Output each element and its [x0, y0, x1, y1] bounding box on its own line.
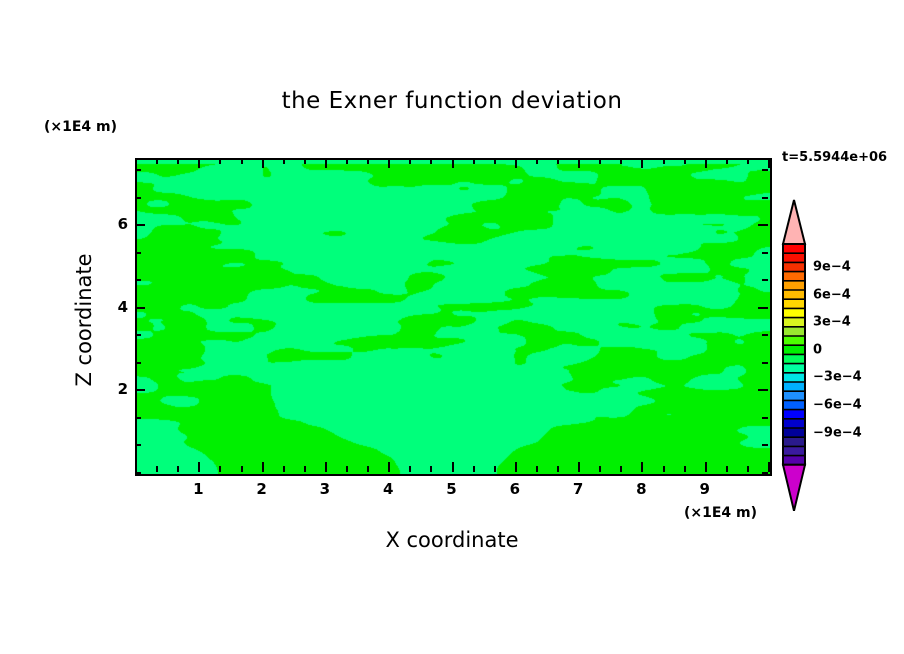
x-minor-tick-top [304, 158, 306, 164]
colorbar-segment [783, 308, 805, 318]
colorbar-segment [783, 446, 805, 456]
y-minor-tick-right [762, 417, 768, 419]
timestamp-annotation: t=5.5944e+06 [782, 150, 887, 165]
x-minor-tick [177, 466, 179, 472]
x-minor-tick [599, 466, 601, 472]
x-minor-tick [156, 466, 158, 472]
colorbar-segment [783, 253, 805, 263]
x-minor-tick-top [367, 158, 369, 164]
x-major-tick-top [578, 158, 580, 168]
x-tick-label: 7 [563, 480, 593, 498]
x-tick-label: 1 [183, 480, 213, 498]
y-major-tick-right [758, 307, 768, 309]
y-minor-tick-right [762, 444, 768, 446]
colorbar-segment [783, 400, 805, 410]
y-axis-title-wrapper: Z coordinate [72, 225, 96, 415]
colorbar-segment [783, 272, 805, 282]
colorbar-tick-label: 3e−4 [813, 315, 851, 330]
x-minor-tick [219, 466, 221, 472]
x-axis-unit-label: (×1E4 m) [684, 505, 757, 521]
y-minor-tick [135, 169, 141, 171]
y-tick-label: 4 [104, 298, 128, 316]
x-minor-tick-top [726, 158, 728, 164]
x-minor-tick-top [684, 158, 686, 164]
colorbar-segment [783, 244, 805, 254]
x-major-tick-top [198, 158, 200, 168]
x-tick-label: 4 [373, 480, 403, 498]
x-minor-tick-top [177, 158, 179, 164]
y-tick-label: 6 [104, 215, 128, 233]
colorbar-segment [783, 419, 805, 429]
x-major-tick-top [135, 158, 137, 168]
x-major-tick-top [705, 158, 707, 168]
colorbar-segment [783, 281, 805, 291]
x-tick-label: 3 [310, 480, 340, 498]
x-minor-tick [283, 466, 285, 472]
x-major-tick [578, 462, 580, 472]
page-title: the Exner function deviation [0, 88, 904, 114]
x-minor-tick-top [430, 158, 432, 164]
y-tick-label: 2 [104, 380, 128, 398]
colorbar-segment [783, 318, 805, 328]
x-major-tick-top [768, 158, 770, 168]
x-minor-tick [726, 466, 728, 472]
colorbar-segment [783, 299, 805, 309]
contour-plot-area [135, 158, 772, 476]
colorbar-tick-label: 9e−4 [813, 260, 851, 275]
x-major-tick [452, 462, 454, 472]
colorbar-tick-label: 0 [813, 342, 822, 357]
y-minor-tick-right [762, 279, 768, 281]
colorbar-tick-label: −9e−4 [813, 425, 862, 440]
x-minor-tick [663, 466, 665, 472]
x-minor-tick [536, 466, 538, 472]
colorbar-tick-label: −6e−4 [813, 398, 862, 413]
y-minor-tick-right [762, 252, 768, 254]
colorbar-segment [783, 327, 805, 337]
y-minor-tick-right [762, 197, 768, 199]
colorbar-segment [783, 345, 805, 355]
x-minor-tick-top [346, 158, 348, 164]
x-minor-tick-top [536, 158, 538, 164]
x-major-tick [388, 462, 390, 472]
x-major-tick [515, 462, 517, 472]
x-tick-label: 9 [690, 480, 720, 498]
y-minor-tick [135, 279, 141, 281]
x-minor-tick-top [747, 158, 749, 164]
y-major-tick-right [758, 224, 768, 226]
y-minor-tick [135, 444, 141, 446]
x-major-tick [768, 462, 770, 472]
x-minor-tick-top [283, 158, 285, 164]
x-minor-tick-top [494, 158, 496, 164]
colorbar-segment [783, 262, 805, 272]
x-major-tick [325, 462, 327, 472]
x-minor-tick [304, 466, 306, 472]
y-minor-tick [135, 417, 141, 419]
colorbar-segment [783, 437, 805, 447]
y-axis-title: Z coordinate [72, 253, 96, 386]
x-minor-tick [684, 466, 686, 472]
x-major-tick-top [641, 158, 643, 168]
x-major-tick [641, 462, 643, 472]
x-minor-tick [367, 466, 369, 472]
colorbar-segment [783, 391, 805, 401]
y-major-tick [135, 389, 145, 391]
x-minor-tick-top [557, 158, 559, 164]
x-minor-tick-top [241, 158, 243, 164]
colorbar-segment [783, 456, 805, 466]
y-minor-tick [135, 197, 141, 199]
colorbar-over-arrow [783, 200, 805, 244]
y-minor-tick [135, 252, 141, 254]
y-axis-unit-label: (×1E4 m) [44, 119, 117, 135]
x-minor-tick-top [599, 158, 601, 164]
x-minor-tick-top [156, 158, 158, 164]
x-minor-tick [620, 466, 622, 472]
x-minor-tick [241, 466, 243, 472]
x-minor-tick [494, 466, 496, 472]
x-axis-title: X coordinate [0, 528, 904, 552]
x-tick-label: 2 [247, 480, 277, 498]
x-minor-tick [430, 466, 432, 472]
y-major-tick [135, 224, 145, 226]
colorbar-tick-label: −3e−4 [813, 370, 862, 385]
colorbar-tick-label: 6e−4 [813, 287, 851, 302]
colorbar-segment [783, 336, 805, 346]
x-minor-tick [747, 466, 749, 472]
x-minor-tick-top [473, 158, 475, 164]
x-tick-label: 5 [437, 480, 467, 498]
x-minor-tick [557, 466, 559, 472]
x-minor-tick-top [663, 158, 665, 164]
y-minor-tick [135, 362, 141, 364]
colorbar-under-arrow [783, 465, 805, 511]
colorbar-segment [783, 290, 805, 300]
x-minor-tick [473, 466, 475, 472]
y-minor-tick [135, 334, 141, 336]
x-major-tick [198, 462, 200, 472]
colorbar-segment [783, 410, 805, 420]
x-major-tick-top [452, 158, 454, 168]
x-major-tick [705, 462, 707, 472]
colorbar-segment [783, 382, 805, 392]
y-minor-tick-right [762, 472, 768, 474]
y-minor-tick-right [762, 169, 768, 171]
x-major-tick [262, 462, 264, 472]
y-major-tick [135, 307, 145, 309]
x-minor-tick-top [409, 158, 411, 164]
x-minor-tick-top [620, 158, 622, 164]
y-minor-tick-right [762, 334, 768, 336]
x-major-tick [135, 462, 137, 472]
colorbar-segment [783, 428, 805, 438]
colorbar-segment [783, 373, 805, 383]
contour-field-canvas [137, 160, 770, 474]
x-tick-label: 8 [626, 480, 656, 498]
y-major-tick-right [758, 389, 768, 391]
y-minor-tick-right [762, 362, 768, 364]
x-minor-tick [346, 466, 348, 472]
y-minor-tick [135, 472, 141, 474]
colorbar-segment [783, 364, 805, 374]
colorbar: 9e−46e−43e−40−3e−4−6e−4−9e−4 [779, 198, 899, 516]
x-major-tick-top [515, 158, 517, 168]
x-major-tick-top [262, 158, 264, 168]
x-tick-label: 6 [500, 480, 530, 498]
colorbar-segment [783, 354, 805, 364]
x-minor-tick [409, 466, 411, 472]
x-major-tick-top [325, 158, 327, 168]
x-major-tick-top [388, 158, 390, 168]
x-minor-tick-top [219, 158, 221, 164]
colorbar-swatches [779, 198, 809, 516]
